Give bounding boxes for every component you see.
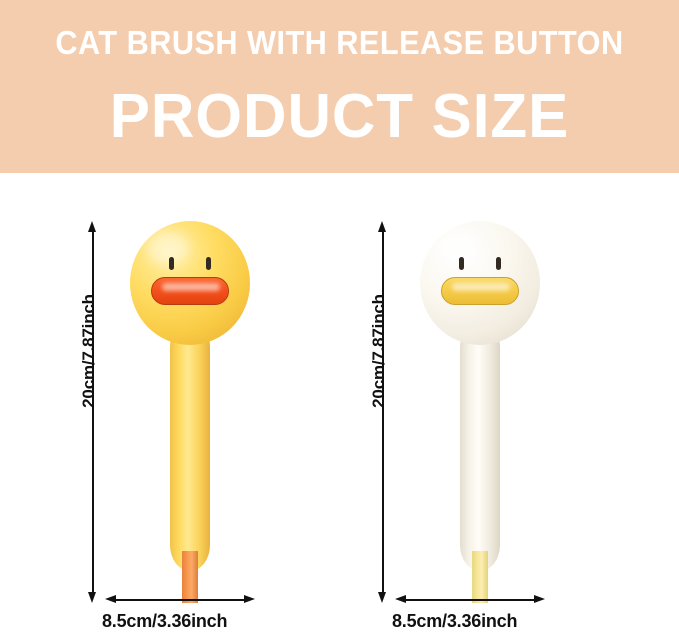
brush-head (420, 221, 540, 345)
release-button (151, 277, 229, 305)
brush-figure-yellow (120, 221, 260, 601)
arrow-down-icon (88, 592, 96, 603)
product-stage: 20cm/7.87inch 8.5cm/3.36inch (0, 173, 679, 637)
arrow-down-icon (378, 592, 386, 603)
gloss-highlight (436, 231, 480, 265)
header-subtitle: CAT BRUSH WITH RELEASE BUTTON (24, 26, 655, 59)
gloss-highlight (146, 231, 190, 265)
eye-left-icon (459, 257, 464, 270)
product-yellow-cat-brush: 20cm/7.87inch 8.5cm/3.36inch (40, 173, 340, 637)
brush-handle (460, 321, 500, 571)
product-white-cat-brush: 20cm/7.87inch 8.5cm/3.36inch (330, 173, 630, 637)
eye-right-icon (496, 257, 501, 270)
height-dimension-line-yellow (86, 221, 100, 603)
brush-handle (170, 321, 210, 571)
dimension-line (382, 228, 384, 596)
width-label-white: 8.5cm/3.36inch (330, 611, 610, 632)
button-gloss-highlight (162, 283, 220, 291)
width-dimension-line-yellow (105, 593, 255, 607)
dimension-line (402, 599, 538, 601)
width-dimension-line-white (395, 593, 545, 607)
height-label-white: 20cm/7.87inch (369, 294, 389, 408)
arrow-right-icon (534, 595, 545, 603)
page-title: PRODUCT SIZE (10, 86, 669, 148)
eye-right-icon (206, 257, 211, 270)
dimension-line (92, 228, 94, 596)
header-banner: CAT BRUSH WITH RELEASE BUTTON PRODUCT SI… (0, 0, 679, 173)
brush-head (130, 221, 250, 345)
button-gloss-highlight (452, 283, 510, 291)
height-dimension-line-white (376, 221, 390, 603)
release-button (441, 277, 519, 305)
brush-figure-white (410, 221, 550, 601)
height-label-yellow: 20cm/7.87inch (79, 294, 99, 408)
eye-left-icon (169, 257, 174, 270)
width-label-yellow: 8.5cm/3.36inch (40, 611, 320, 632)
arrow-right-icon (244, 595, 255, 603)
dimension-line (112, 599, 248, 601)
